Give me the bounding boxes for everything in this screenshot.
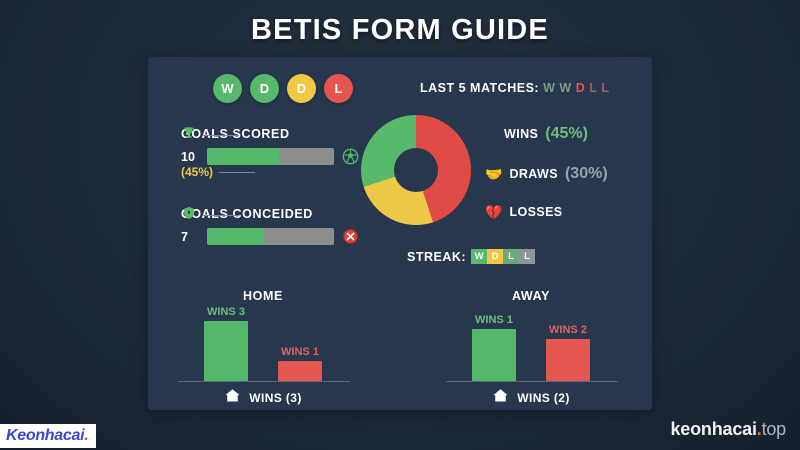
soccer-ball-icon — [342, 148, 359, 165]
home-icon — [492, 387, 509, 409]
chart-axis-line — [446, 381, 618, 382]
home-icon — [224, 387, 241, 409]
form-badge-2: D — [287, 74, 316, 103]
bar-caption: WINS 3 — [204, 306, 248, 318]
streak-chip-1: D — [487, 249, 503, 264]
leader-line — [219, 172, 255, 173]
legend-percent: (45%) — [545, 125, 588, 143]
page-title: BETIS FORM GUIDE — [0, 14, 800, 47]
last-five-result-2: D — [576, 81, 586, 95]
last-five-matches: LAST 5 MATCHES:WWDLL — [420, 81, 610, 95]
bar — [546, 339, 590, 381]
form-badge-3: L — [324, 74, 353, 103]
donut-left-legend-shield — [181, 205, 239, 226]
chart-foot-label: WINS (3) — [249, 391, 302, 405]
streak-chip-3: L — [519, 249, 535, 264]
shield-icon — [181, 205, 197, 226]
chart-axis-line — [178, 381, 350, 382]
chart-away: AWAY WINS 1WINS 2 WINS (2) — [436, 289, 626, 409]
watermark-right-tld: top — [762, 419, 786, 439]
leader-line — [203, 215, 239, 216]
chart-foot-label: WINS (2) — [517, 391, 570, 405]
last-five-result-1: W — [559, 81, 571, 95]
legend-label: DRAWS — [509, 167, 558, 181]
chart-footer: WINS (3) — [168, 387, 358, 409]
progress-fill — [207, 228, 264, 245]
progress-track — [207, 228, 334, 245]
last-five-result-4: L — [601, 81, 609, 95]
legend-item-draws: 🤝 DRAWS (30%) — [485, 165, 608, 183]
watermark-right: keonhacai.top — [671, 419, 787, 440]
bar-slot: WINS 1 — [472, 314, 516, 381]
watermark-left-text: Keonhacai — [6, 427, 84, 444]
chart-home: HOME WINS 3WINS 1 WINS (3) — [168, 289, 358, 409]
streak-chip-0: W — [471, 249, 487, 264]
watermark-left: Keonhacai. — [0, 424, 96, 448]
results-donut-chart — [361, 115, 471, 225]
chart-plot: WINS 1WINS 2 — [454, 311, 612, 381]
bar — [472, 329, 516, 381]
bar-slot: WINS 3 — [204, 306, 248, 381]
stat-value: 7 — [181, 230, 199, 244]
last-five-label: LAST 5 MATCHES: — [420, 81, 539, 95]
last-five-result-0: W — [543, 81, 555, 95]
donut-percent-label: (45%) — [181, 165, 213, 179]
chart-title: HOME — [168, 289, 358, 303]
progress-track — [207, 148, 334, 165]
form-badge-0: W — [213, 74, 242, 103]
legend-label: WINS — [504, 127, 538, 141]
infographic-root: BETIS FORM GUIDE WDDL LAST 5 MATCHES:WWD… — [0, 0, 800, 450]
donut-left-legend-trophy — [181, 125, 239, 146]
stat-value: 10 — [181, 150, 199, 164]
streak-chip-2: L — [503, 249, 519, 264]
donut-hole — [394, 148, 438, 192]
streak-chips: WDLL — [471, 249, 535, 264]
streak-label: STREAK: — [407, 250, 466, 264]
trophy-icon — [181, 125, 197, 146]
bar — [278, 361, 322, 381]
legend-label: LOSSES — [509, 205, 562, 219]
chart-title: AWAY — [436, 289, 626, 303]
legend-item-losses: 💔 LOSSES — [485, 205, 563, 219]
form-badge-1: D — [250, 74, 279, 103]
handshake-icon: 🤝 — [485, 167, 502, 181]
bar — [204, 321, 248, 381]
streak-row: STREAK: WDLL — [407, 249, 535, 264]
legend-percent: (30%) — [565, 165, 608, 183]
bar-slot: WINS 2 — [546, 324, 590, 381]
bar-caption: WINS 1 — [472, 314, 516, 326]
progress-fill — [207, 148, 279, 165]
bar-caption: WINS 1 — [278, 346, 322, 358]
legend-item-wins: WINS (45%) — [504, 125, 588, 143]
stats-card: WDDL LAST 5 MATCHES:WWDLL GOALS SCORED 1… — [148, 57, 652, 410]
chart-footer: WINS (2) — [436, 387, 626, 409]
chart-plot: WINS 3WINS 1 — [186, 311, 344, 381]
form-badge-row: WDDL — [213, 74, 353, 103]
donut-left-legend-percent: (45%) — [181, 165, 255, 179]
leader-line — [203, 135, 239, 136]
watermark-left-dot: . — [84, 427, 88, 444]
bar-caption: WINS 2 — [546, 324, 590, 336]
x-circle-icon — [342, 228, 359, 245]
last-five-result-3: L — [589, 81, 597, 95]
bar-slot: WINS 1 — [278, 346, 322, 381]
broken-heart-icon: 💔 — [485, 205, 502, 219]
watermark-right-main: keonhacai — [671, 419, 757, 439]
